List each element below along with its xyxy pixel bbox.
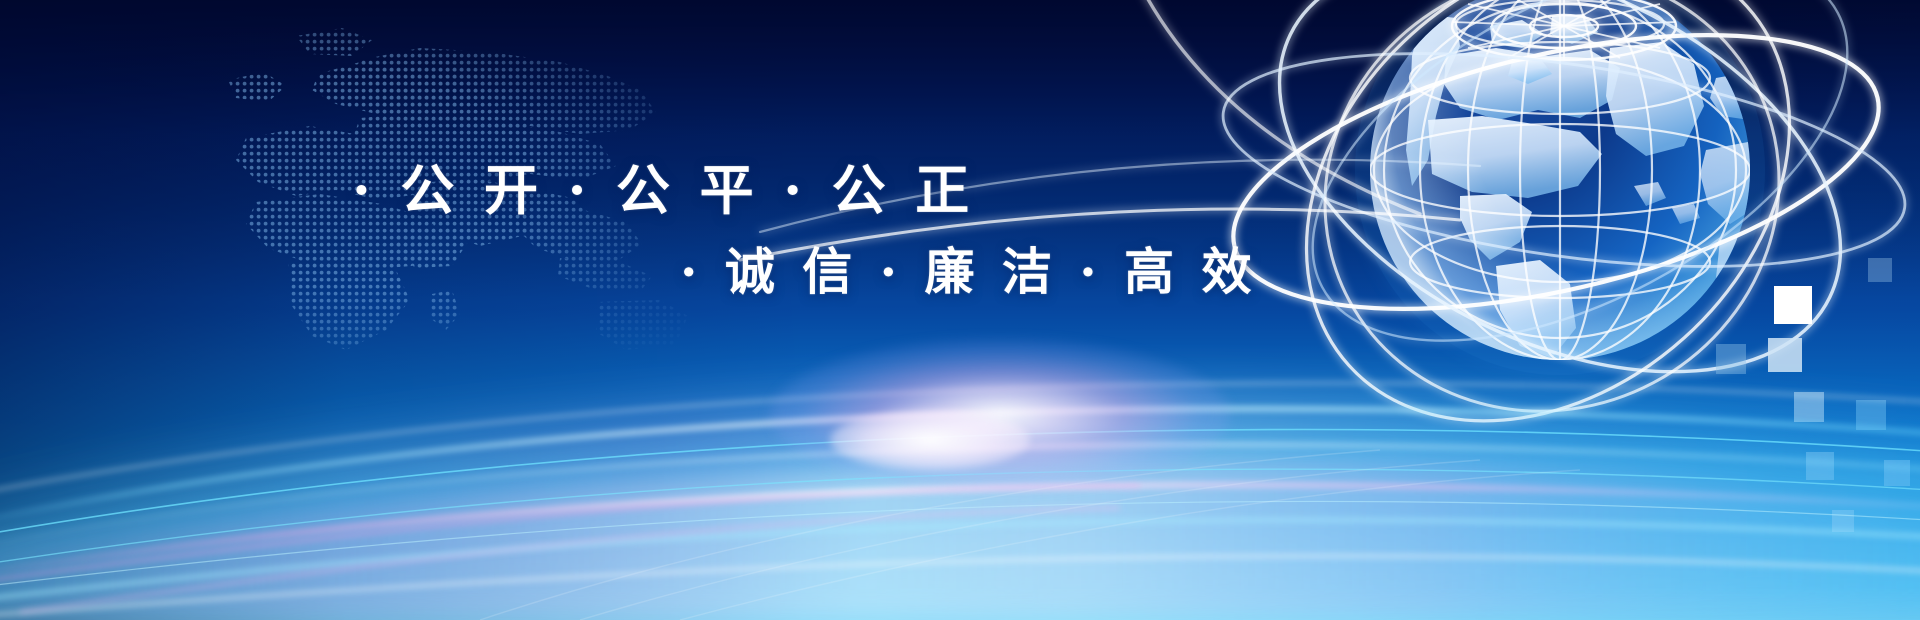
light-burst-core-inner <box>830 410 1030 470</box>
square-top <box>1868 258 1892 282</box>
slogan-line-2: · 诚 信 · 廉 洁 · 高 效 <box>680 232 1256 304</box>
slogan-line-1: · 公 开 · 公 平 · 公 正 <box>352 146 975 225</box>
banner-root: · 公 开 · 公 平 · 公 正 · 诚 信 · 廉 洁 · 高 效 <box>0 0 1920 620</box>
light-wave-ribbons <box>0 290 1920 620</box>
light-burst-core <box>770 340 1230 490</box>
